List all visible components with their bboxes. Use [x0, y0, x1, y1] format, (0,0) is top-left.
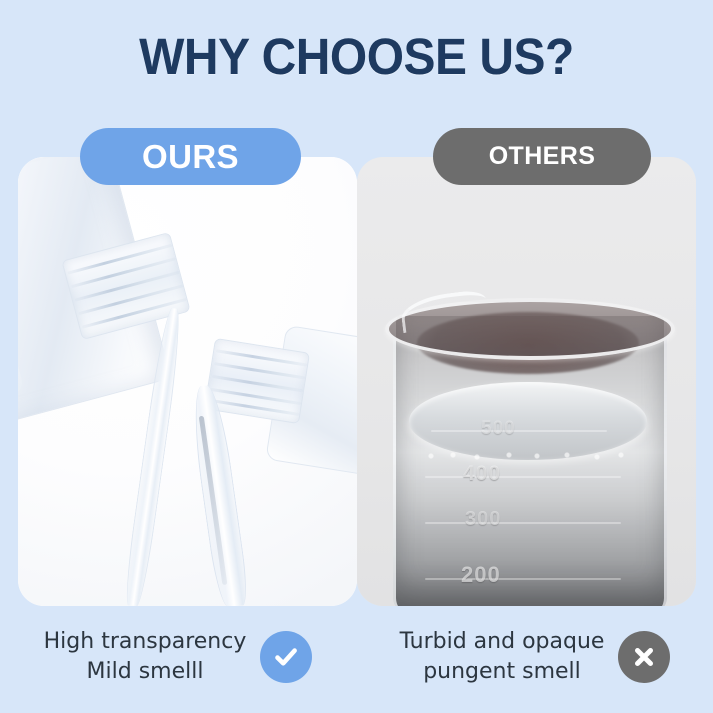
- caption-row: High transparency Mild smelll Turbid and…: [0, 614, 713, 700]
- graduation-label-500: 500: [481, 418, 516, 440]
- surface-bubbles: [425, 452, 631, 460]
- graduation-label-200: 200: [461, 562, 501, 588]
- graduation-label-300: 300: [465, 508, 501, 531]
- comparison-infographic: WHY CHOOSE US?: [0, 0, 713, 713]
- bottle-neck-small: [204, 338, 310, 424]
- others-panel: 500 400 300 200: [357, 157, 696, 606]
- graduation-line-500: [431, 430, 607, 432]
- glass-beaker: 500 400 300 200: [385, 290, 675, 606]
- ours-product-photo: [18, 157, 357, 606]
- others-product-photo: 500 400 300 200: [357, 157, 696, 606]
- check-badge: [260, 631, 312, 683]
- ours-caption-text: High transparency Mild smelll: [44, 627, 247, 687]
- graduation-label-400: 400: [463, 462, 501, 486]
- graduation-line-400: [425, 476, 621, 478]
- ours-panel: [18, 157, 357, 606]
- comparison-columns: 500 400 300 200: [0, 157, 713, 607]
- others-caption-line-2: pungent smell: [400, 657, 605, 687]
- check-icon: [271, 642, 301, 672]
- others-caption: Turbid and opaque pungent smell: [357, 614, 713, 700]
- cross-icon: [630, 643, 658, 671]
- ours-caption: High transparency Mild smelll: [0, 614, 356, 700]
- others-caption-text: Turbid and opaque pungent smell: [400, 627, 605, 687]
- others-badge: OTHERS: [433, 128, 651, 185]
- ours-caption-line-2: Mild smelll: [44, 657, 247, 687]
- page-title: WHY CHOOSE US?: [21, 28, 691, 86]
- others-caption-line-1: Turbid and opaque: [400, 629, 605, 654]
- graduation-line-200: [425, 578, 621, 580]
- ours-caption-line-1: High transparency: [44, 629, 247, 654]
- graduation-line-300: [425, 522, 621, 524]
- liquid-surface: [409, 382, 647, 460]
- pouring-stream-right: [188, 385, 251, 606]
- ours-badge: OURS: [80, 128, 301, 185]
- cross-badge: [618, 631, 670, 683]
